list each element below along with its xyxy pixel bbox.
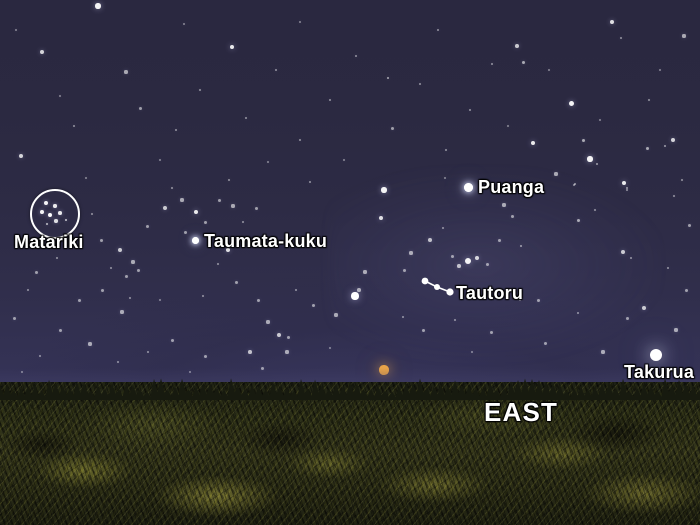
star: [402, 316, 405, 319]
star: [226, 248, 230, 252]
star: [577, 219, 580, 222]
star: [630, 257, 633, 260]
star: [329, 99, 332, 102]
star: [601, 350, 604, 353]
star: [622, 181, 627, 186]
star: [88, 342, 91, 345]
star: [507, 125, 510, 128]
star: [163, 206, 167, 210]
star: [21, 371, 24, 374]
star: [27, 289, 30, 292]
star: [574, 183, 577, 186]
star: [673, 195, 676, 198]
star: [91, 213, 94, 216]
star: [626, 187, 629, 190]
taumata-kuku-star: [192, 237, 199, 244]
star: [261, 367, 264, 370]
star: [519, 299, 522, 302]
star: [642, 306, 646, 310]
star: [454, 319, 457, 322]
star: [180, 198, 183, 201]
star: [266, 320, 269, 323]
star: [688, 224, 691, 227]
star: [255, 207, 258, 210]
star: [626, 189, 629, 192]
star: [610, 20, 614, 24]
star: [95, 3, 100, 8]
star: [469, 109, 472, 112]
star: [267, 161, 270, 164]
star: [502, 203, 505, 206]
star: [531, 141, 536, 146]
star: [685, 289, 688, 292]
star: [674, 328, 677, 331]
star: [73, 125, 76, 128]
star: [363, 270, 366, 273]
star: [569, 101, 574, 106]
star: [422, 329, 425, 332]
star: [147, 351, 150, 354]
star: [146, 225, 149, 228]
foliage-texture: [0, 382, 700, 525]
star: [343, 159, 346, 162]
star: [409, 251, 412, 254]
star: [351, 292, 358, 299]
star: [621, 250, 625, 254]
star: [189, 371, 192, 374]
star: [442, 227, 445, 230]
star: [287, 336, 290, 339]
puanga-star: [464, 183, 473, 192]
matariki-cluster-star: [46, 223, 49, 226]
star: [659, 69, 662, 72]
star: [309, 181, 312, 184]
star: [520, 245, 523, 248]
star: [245, 117, 248, 120]
star: [35, 271, 38, 274]
matariki-cluster-star: [48, 213, 52, 217]
star: [391, 127, 394, 130]
star: [457, 264, 461, 268]
star: [159, 159, 162, 162]
star: [475, 256, 479, 260]
star: [312, 304, 315, 307]
star: [228, 179, 231, 182]
star: [204, 355, 207, 358]
star: [577, 312, 580, 315]
star: [299, 139, 302, 142]
star: [125, 275, 128, 278]
star: [257, 299, 260, 302]
star: [537, 299, 540, 302]
star: [13, 317, 16, 320]
star: [175, 129, 178, 132]
star: [124, 70, 127, 73]
star: [465, 258, 471, 264]
star: [17, 245, 20, 248]
star: [544, 342, 547, 345]
star: [15, 29, 18, 32]
matariki-cluster-star: [54, 219, 57, 222]
star: [515, 44, 519, 48]
star: [199, 89, 202, 92]
star: [357, 288, 361, 292]
star: [587, 156, 592, 161]
star: [646, 147, 649, 150]
star: [171, 187, 174, 190]
matariki-cluster-star: [53, 204, 56, 207]
star: [59, 95, 62, 98]
star: [682, 34, 685, 37]
star: [131, 260, 134, 263]
star: [491, 63, 494, 66]
matariki-cluster-star: [58, 211, 62, 215]
star: [295, 289, 298, 292]
star: [101, 289, 104, 292]
star: [444, 177, 447, 180]
star: [56, 257, 59, 260]
star: [275, 69, 278, 72]
star: [40, 50, 44, 54]
star-chart-image: MatarikiTaumata-kukuPuangaTautoruTakurua…: [0, 0, 700, 525]
star: [329, 347, 332, 350]
matariki-cluster-star: [44, 201, 48, 205]
star: [355, 55, 358, 58]
star: [285, 350, 288, 353]
star: [248, 350, 252, 354]
star: [387, 77, 390, 80]
star: [118, 248, 122, 252]
star: [428, 238, 432, 242]
star: [204, 221, 207, 224]
star: [419, 83, 422, 86]
star: [490, 331, 493, 334]
star: [85, 177, 88, 180]
star: [626, 317, 629, 320]
star: [137, 269, 140, 272]
star: [681, 179, 684, 182]
star: [217, 263, 220, 266]
star: [171, 339, 174, 342]
star: [451, 255, 454, 258]
star: [548, 69, 551, 72]
star: [445, 149, 448, 152]
star: [100, 239, 103, 242]
star: [110, 267, 113, 270]
star: [667, 267, 670, 270]
star: [334, 313, 337, 316]
star: [620, 37, 622, 39]
star: [471, 351, 474, 354]
star: [648, 99, 651, 102]
star: [403, 269, 406, 272]
star: [39, 355, 42, 358]
orange-star-star: [379, 365, 388, 374]
star: [202, 295, 205, 298]
star: [299, 21, 302, 24]
star: [78, 299, 81, 302]
star: [129, 297, 132, 300]
star: [159, 299, 162, 302]
star: [664, 145, 667, 148]
star: [522, 61, 525, 64]
star: [117, 361, 120, 364]
star: [594, 209, 597, 212]
star: [194, 210, 199, 215]
foliage-texture-fine: [0, 382, 700, 525]
star: [554, 172, 557, 175]
star: [437, 29, 440, 32]
star: [596, 163, 599, 166]
star: [235, 281, 238, 284]
takurua-star: [650, 349, 662, 361]
star: [139, 107, 142, 110]
star: [231, 204, 234, 207]
star: [230, 45, 235, 50]
star: [671, 138, 675, 142]
star: [243, 237, 246, 240]
star: [498, 239, 501, 242]
milky-way-glow: [330, 170, 660, 360]
star: [599, 119, 602, 122]
star: [381, 187, 386, 192]
star: [511, 215, 514, 218]
star: [59, 329, 62, 332]
star: [19, 154, 23, 158]
star: [573, 184, 575, 186]
foliage-foreground: [0, 382, 700, 525]
star: [184, 231, 187, 234]
star: [277, 333, 281, 337]
star: [582, 139, 585, 142]
star: [379, 216, 384, 221]
star: [183, 23, 186, 26]
star: [242, 221, 245, 224]
star: [218, 199, 221, 202]
matariki-cluster-star: [65, 219, 68, 222]
star: [486, 263, 489, 266]
star: [120, 310, 123, 313]
matariki-cluster-star: [40, 210, 44, 214]
night-sky: [0, 0, 700, 400]
